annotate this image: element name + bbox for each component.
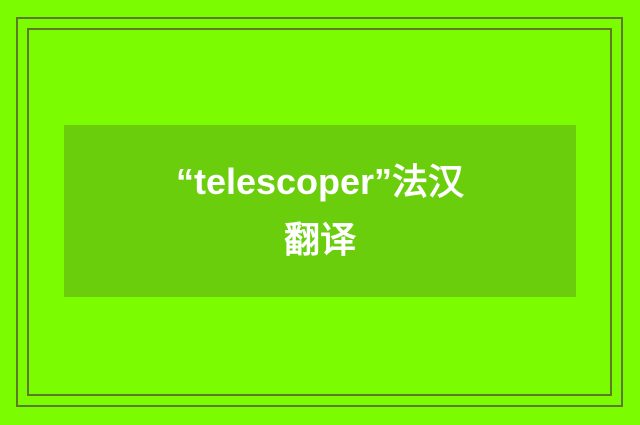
page-title: “telescoper”法汉翻译 — [170, 153, 470, 270]
title-panel: “telescoper”法汉翻译 — [64, 125, 576, 297]
title-card: “telescoper”法汉翻译 — [0, 0, 640, 425]
